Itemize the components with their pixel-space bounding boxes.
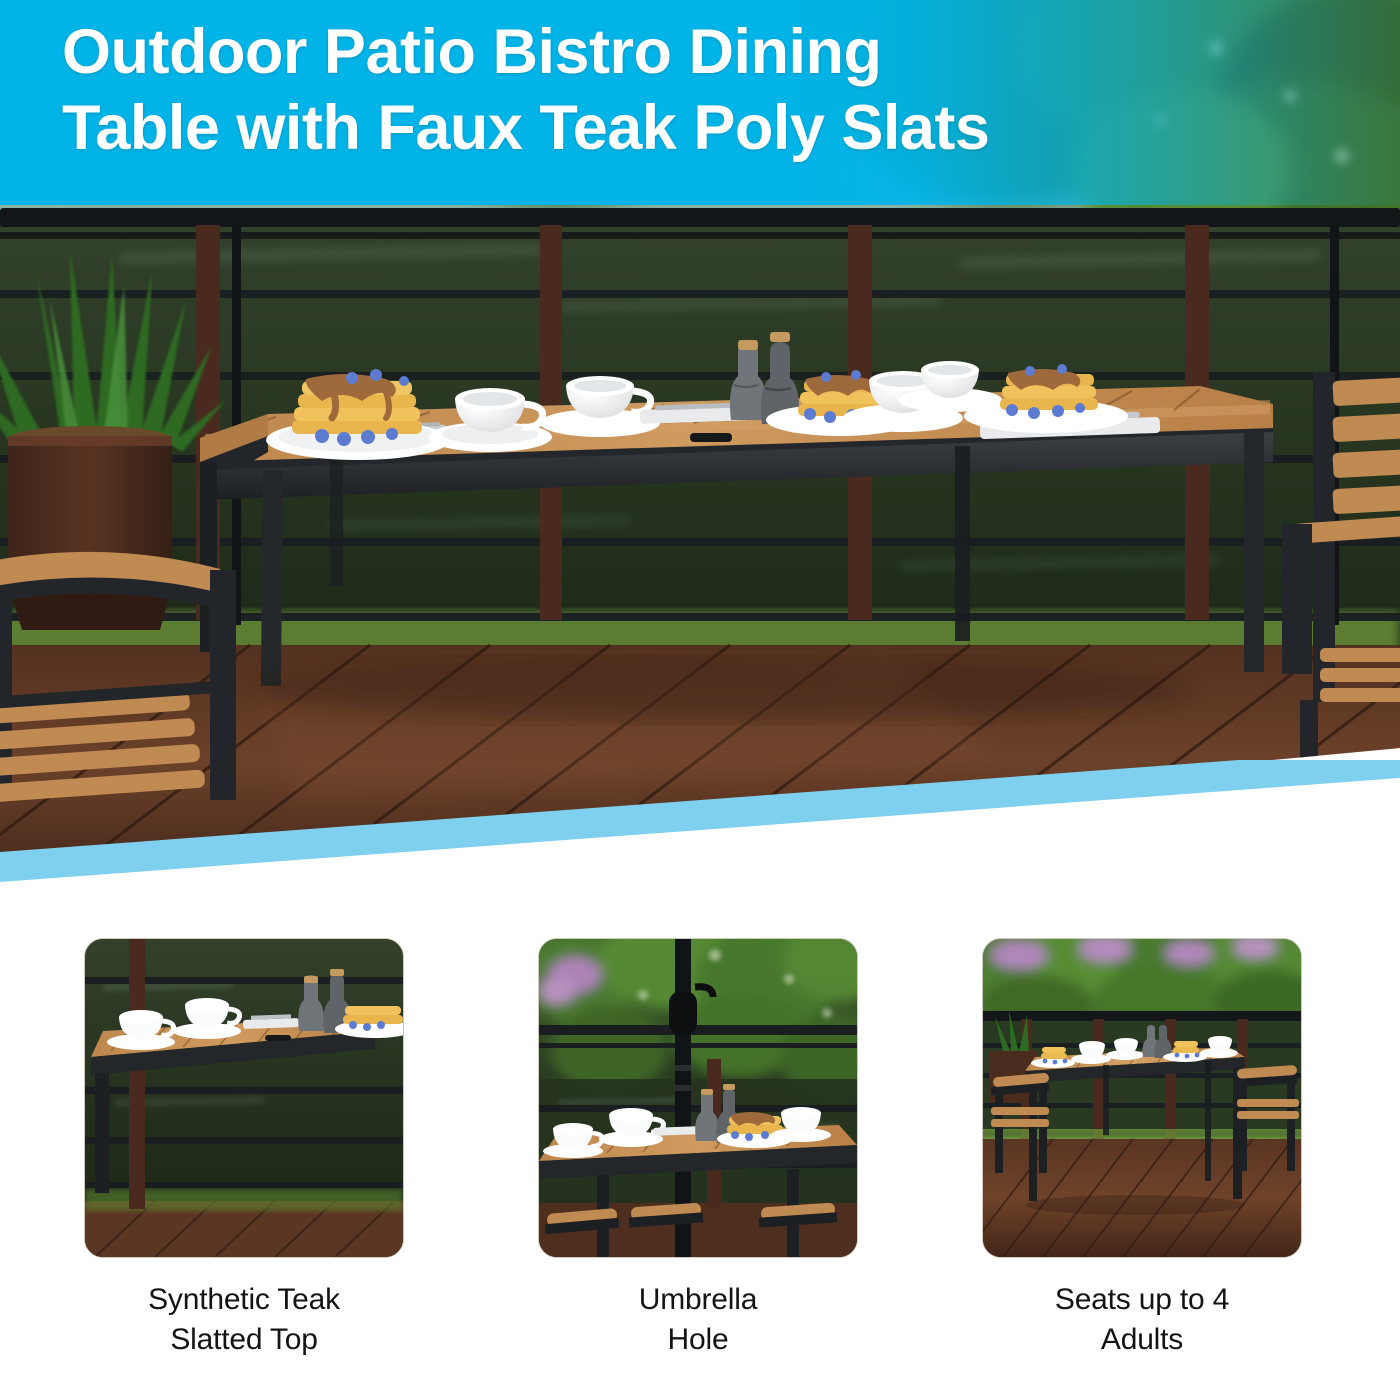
feature-image-umbrella-hole bbox=[538, 938, 858, 1258]
feature-caption-seats-up-to-4-adults: Seats up to 4 Adults bbox=[982, 1280, 1302, 1360]
feature-card-seats-up-to-4-adults[interactable]: Seats up to 4 Adults bbox=[982, 938, 1302, 1360]
seats-up-to-4-adults-illustration bbox=[983, 939, 1301, 1257]
feature-thumbnails: Synthetic Teak Slatted Top bbox=[0, 938, 1400, 1400]
feature-image-seats-up-to-4-adults bbox=[982, 938, 1302, 1258]
caption-line-1: Synthetic Teak bbox=[84, 1280, 404, 1320]
hero-scene-illustration bbox=[0, 0, 1400, 880]
caption-line-2: Slatted Top bbox=[84, 1320, 404, 1360]
umbrella-hole-illustration bbox=[539, 939, 857, 1257]
feature-caption-synthetic-teak-slatted-top: Synthetic Teak Slatted Top bbox=[84, 1280, 404, 1360]
feature-card-umbrella-hole[interactable]: Umbrella Hole bbox=[538, 938, 858, 1360]
caption-line-2: Adults bbox=[982, 1320, 1302, 1360]
synthetic-teak-slatted-top-illustration bbox=[85, 939, 403, 1257]
caption-line-2: Hole bbox=[538, 1320, 858, 1360]
caption-line-1: Umbrella bbox=[538, 1280, 858, 1320]
feature-image-synthetic-teak-slatted-top bbox=[84, 938, 404, 1258]
product-feature-page: Outdoor Patio Bistro Dining Table with F… bbox=[0, 0, 1400, 1400]
hero-product-photo bbox=[0, 0, 1400, 880]
caption-line-1: Seats up to 4 bbox=[982, 1280, 1302, 1320]
feature-caption-umbrella-hole: Umbrella Hole bbox=[538, 1280, 858, 1360]
diagonal-accent-stripe bbox=[0, 760, 1400, 910]
feature-card-synthetic-teak-slatted-top[interactable]: Synthetic Teak Slatted Top bbox=[84, 938, 404, 1360]
